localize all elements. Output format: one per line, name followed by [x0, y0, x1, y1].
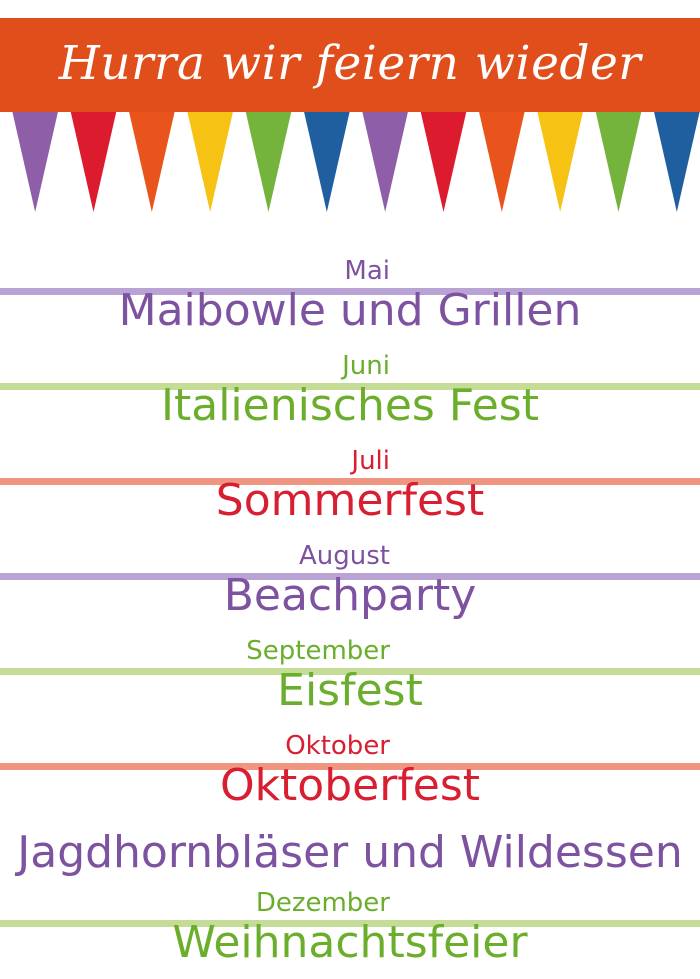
event-month-label: Juni: [0, 349, 390, 383]
bunting-flag-icon: [71, 112, 117, 212]
event-row: SeptemberEisfest: [0, 634, 700, 729]
header-band: Hurra wir feiern wieder: [0, 18, 700, 112]
event-row: JuliSommerfest: [0, 444, 700, 539]
bunting-flag-icon: [596, 112, 642, 212]
bunting-flag-icon: [421, 112, 467, 212]
event-title: Oktoberfest: [0, 757, 700, 815]
event-row: AugustBeachparty: [0, 539, 700, 634]
bunting-flag-icon: [187, 112, 233, 212]
event-title: Jagdhornbläser und Wildessen: [0, 824, 700, 882]
event-row: JuniItalienisches Fest: [0, 349, 700, 444]
event-month-label: August: [0, 539, 390, 573]
bunting-flag-icon: [246, 112, 292, 212]
event-title: Maibowle und Grillen: [0, 282, 700, 340]
event-row: Jagdhornbläser und Wildessen: [0, 824, 700, 886]
bunting-flags-icon: [0, 112, 700, 224]
page-title: Hurra wir feiern wieder: [0, 18, 700, 112]
event-month-label: Mai: [0, 254, 390, 288]
bunting-flag-icon: [654, 112, 700, 212]
bunting-flag-icon: [304, 112, 350, 212]
event-month-label: Juli: [0, 444, 390, 478]
bunting-flag-icon: [12, 112, 58, 212]
bunting-flag-icon: [362, 112, 408, 212]
event-title: Italienisches Fest: [0, 377, 700, 435]
event-title: Sommerfest: [0, 472, 700, 530]
event-month-label: Dezember: [0, 886, 390, 920]
event-month-label: Oktober: [0, 729, 390, 763]
event-month-label: September: [0, 634, 390, 668]
event-list: MaiMaibowle und GrillenJuniItalienisches…: [0, 254, 700, 979]
poster-canvas: Hurra wir feiern wieder MaiMaibowle und …: [0, 0, 700, 979]
event-title: Beachparty: [0, 567, 700, 625]
bunting-flag-icon: [479, 112, 524, 212]
event-title: Weihnachtsfeier: [0, 914, 700, 972]
bunting-flag-icon: [537, 112, 583, 212]
event-row: DezemberWeihnachtsfeier: [0, 886, 700, 979]
bunting-banner: [0, 112, 700, 224]
event-row: OktoberOktoberfest: [0, 729, 700, 824]
event-row: MaiMaibowle und Grillen: [0, 254, 700, 349]
event-title: Eisfest: [0, 662, 700, 720]
bunting-flag-icon: [129, 112, 175, 212]
